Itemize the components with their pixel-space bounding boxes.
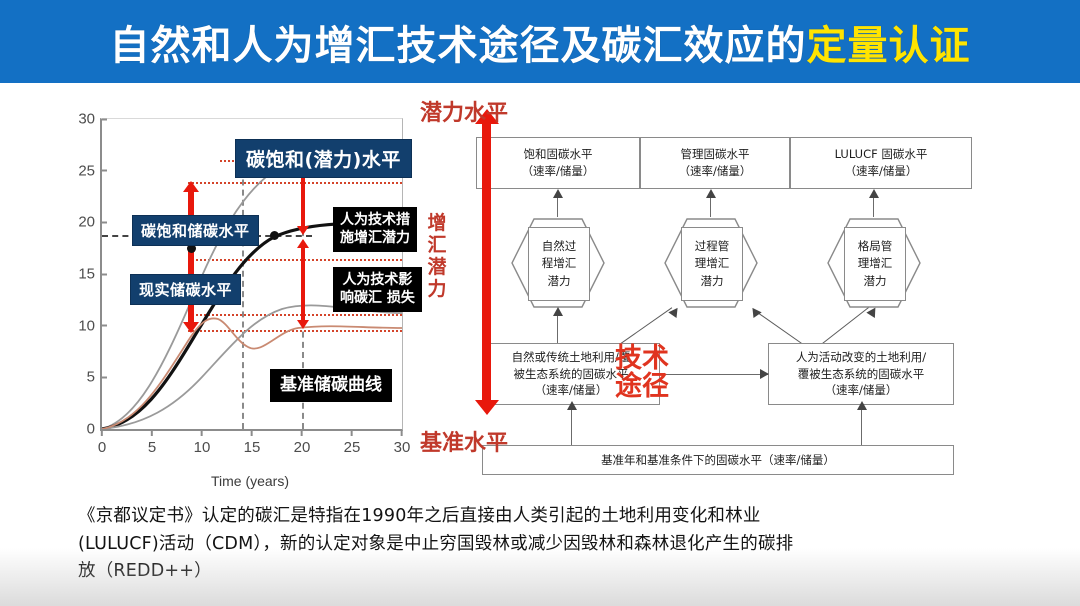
box-natural-landuse-line3: （速率/储量）: [535, 382, 608, 399]
hexagon-pattern-management-inner: 格局管 理增汇 潜力: [844, 227, 906, 301]
connector-midbox1-midbox2: [660, 374, 768, 375]
tech-loss-arrow: [301, 247, 305, 321]
series-baseline-curve: [102, 305, 402, 429]
y-tick-5: 5: [87, 369, 102, 386]
technology-pathway-diagram: 潜力水平 基准水平 增汇潜力 技术途径 饱和固碳水平 （速率/储量） 管理固碳水…: [420, 95, 1020, 495]
label-tech-potential-line2: 施增汇潜力: [340, 230, 410, 248]
box-lulucf-fixation: LULUCF 固碳水平 （速率/储量）: [790, 137, 972, 189]
box-baseline-year-text: 基准年和基准条件下的固碳水平（速率/储量）: [601, 452, 835, 469]
hexagon-process-management-inner: 过程管 理增汇 潜力: [681, 227, 743, 301]
box-management-fixation: 管理固碳水平 （速率/储量）: [640, 137, 790, 189]
caption-line-2: (LULUCF)活动（CDM），新的认定对象是中止穷国毁林或减少因毁林和森林退化…: [78, 531, 1008, 559]
page-title: 自然和人为增汇技术途径及碳汇效应的定量认证: [0, 0, 1080, 83]
hex-process-line2: 理增汇: [695, 255, 730, 272]
x-tick-25: 25: [344, 439, 361, 456]
x-tick-0: 0: [98, 439, 106, 456]
hexagon-natural-process: 自然过 程增汇 潜力: [510, 217, 606, 309]
hex-process-line3: 潜力: [701, 273, 724, 290]
label-baseline-level: 基准水平: [420, 425, 508, 457]
y-tick-10: 10: [78, 317, 102, 334]
box-anthropogenic-landuse: 人为活动改变的土地利用/ 覆被生态系统的固碳水平 （速率/储量）: [768, 343, 954, 405]
box-saturation-fixation-line2: （速率/储量）: [522, 163, 595, 180]
label-tech-potential-line1: 人为技术措: [340, 212, 410, 230]
box-anthropogenic-landuse-line1: 人为活动改变的土地利用/: [796, 349, 926, 366]
hex-natural-line1: 自然过: [542, 238, 577, 255]
y-tick-0: 0: [87, 421, 102, 438]
arrowhead-midbox1-hex1-icon: [553, 307, 563, 316]
label-potential-level: 潜力水平: [420, 95, 508, 127]
data-point-20: [270, 231, 279, 240]
label-tech-loss-line2: 响碳汇 损失: [340, 290, 415, 308]
connector-midbox1-hex2: [618, 307, 673, 346]
x-axis-label: Time (years): [100, 473, 400, 489]
carbon-sink-chart: 0 5 10 15 20 25 30 0 5 10 15 20 25 30: [60, 108, 420, 488]
x-tick-10: 10: [194, 439, 211, 456]
arrowhead-midbox1-midbox2-icon: [760, 369, 769, 379]
label-tech-loss-line1: 人为技术影: [340, 272, 415, 290]
hex-pattern-line2: 理增汇: [858, 255, 893, 272]
caption-line-3: 放（REDD++）: [78, 558, 1008, 586]
box-baseline-year: 基准年和基准条件下的固碳水平（速率/储量）: [482, 445, 954, 475]
connector-midbox2-hex3: [820, 307, 870, 346]
box-lulucf-fixation-line2: （速率/储量）: [845, 163, 918, 180]
hex-pattern-line3: 潜力: [864, 273, 887, 290]
box-saturation-fixation-line1: 饱和固碳水平: [524, 146, 593, 163]
box-lulucf-fixation-line1: LULUCF 固碳水平: [835, 146, 928, 163]
hex-natural-line2: 程增汇: [542, 255, 577, 272]
slide-root: 自然和人为增汇技术途径及碳汇效应的定量认证 0 5 10 15 20 25 30…: [0, 0, 1080, 606]
title-main-text: 自然和人为增汇技术途径及碳汇效应的: [110, 13, 807, 71]
hex-process-line1: 过程管: [695, 238, 730, 255]
y-tick-20: 20: [78, 214, 102, 231]
connector-bottom-midbox1: [571, 405, 572, 445]
label-saturation-level: 碳饱和(潜力)水平: [235, 139, 412, 178]
arrowhead-hex1-top-icon: [553, 189, 563, 198]
hex-pattern-line1: 格局管: [858, 238, 893, 255]
label-tech-potential: 人为技术措 施增汇潜力: [333, 207, 417, 252]
box-saturation-fixation: 饱和固碳水平 （速率/储量）: [476, 137, 640, 189]
x-tick-20: 20: [294, 439, 311, 456]
title-highlight-text: 定量认证: [807, 13, 971, 71]
hexagon-natural-process-inner: 自然过 程增汇 潜力: [528, 227, 590, 301]
label-baseline-curve: 基准储碳曲线: [270, 369, 392, 402]
x-tick-5: 5: [148, 439, 156, 456]
arrowhead-bottom-midbox1-icon: [567, 401, 577, 410]
hexagon-pattern-management: 格局管 理增汇 潜力: [826, 217, 922, 309]
box-anthropogenic-landuse-line3: （速率/储量）: [825, 382, 898, 399]
y-tick-25: 25: [78, 162, 102, 179]
arrowhead-hex2-top-icon: [706, 189, 716, 198]
arrowhead-bottom-midbox2-icon: [857, 401, 867, 410]
x-tick-30: 30: [394, 439, 411, 456]
arrowhead-hex3-top-icon: [869, 189, 879, 198]
label-tech-loss: 人为技术影 响碳汇 损失: [333, 267, 422, 312]
enhancement-potential-arrow: [482, 123, 491, 401]
hexagon-process-management: 过程管 理增汇 潜力: [663, 217, 759, 309]
y-tick-15: 15: [78, 266, 102, 283]
label-enhancement-potential: 增汇潜力: [426, 213, 448, 300]
box-management-fixation-line2: （速率/储量）: [679, 163, 752, 180]
box-anthropogenic-landuse-line2: 覆被生态系统的固碳水平: [798, 366, 925, 383]
label-saturation-storage: 碳饱和储碳水平: [132, 215, 259, 246]
label-real-storage: 现实储碳水平: [130, 274, 241, 305]
label-technology-pathway: 技术途径: [612, 345, 672, 402]
caption-block: 《京都议定书》认定的碳汇是特指在1990年之后直接由人类引起的土地利用变化和林业…: [78, 503, 1008, 586]
box-management-fixation-line1: 管理固碳水平: [681, 146, 750, 163]
connector-bottom-midbox2: [861, 405, 862, 445]
chart-plot-area: 0 5 10 15 20 25 30 0 5 10 15 20 25 30: [100, 118, 403, 431]
caption-line-1: 《京都议定书》认定的碳汇是特指在1990年之后直接由人类引起的土地利用变化和林业: [78, 503, 1008, 531]
x-tick-15: 15: [244, 439, 261, 456]
y-tick-30: 30: [78, 111, 102, 128]
hex-natural-line3: 潜力: [548, 273, 571, 290]
